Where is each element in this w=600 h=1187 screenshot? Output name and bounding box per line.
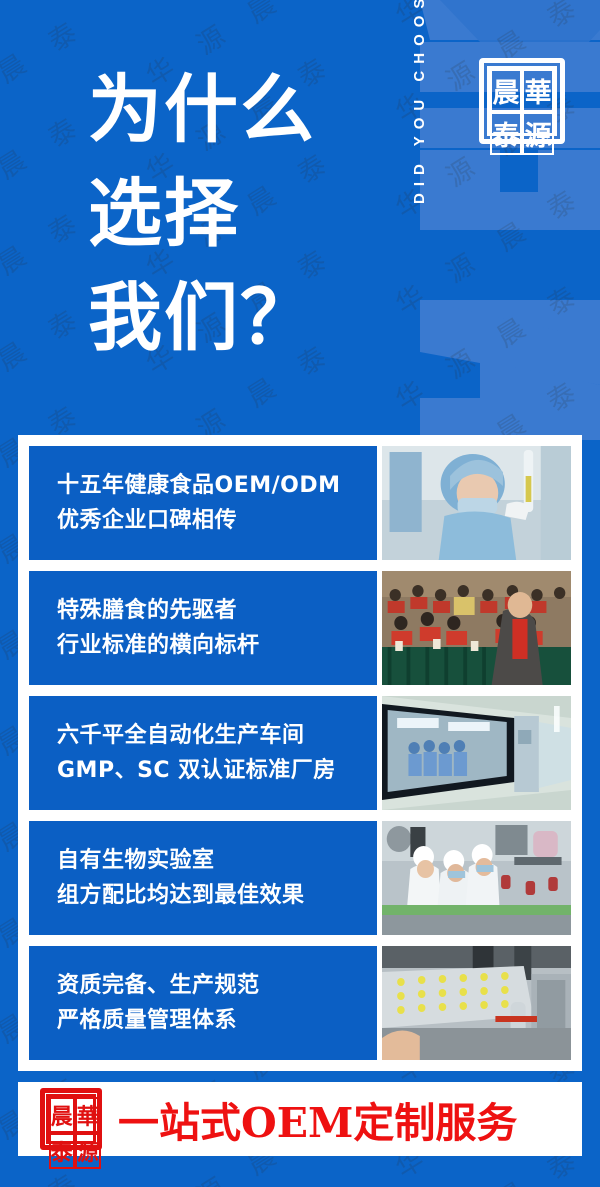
feature-card: 六千平全自动化生产车间 GMP、SC 双认证标准厂房 (29, 696, 571, 810)
feature-card: 十五年健康食品OEM/ODM 优秀企业口碑相传 (29, 446, 571, 560)
brand-logo-stamp: 晨 華 泰 源 (479, 58, 565, 144)
feature-card-line-1: 十五年健康食品OEM/ODM (57, 468, 377, 503)
poster-root: 为什么 选择 我们？ DID YOU CHOOSE US 晨 華 泰 源 十五年… (0, 0, 600, 1187)
footer-slogan-text: 一站式OEM定制服务 (118, 1089, 517, 1149)
feature-card-panel: 十五年健康食品OEM/ODM 优秀企业口碑相传 (18, 435, 582, 1071)
feature-card-text: 十五年健康食品OEM/ODM 优秀企业口碑相传 (29, 446, 377, 560)
headline-line-3: 我们？ (88, 266, 388, 370)
feature-card-line-2: GMP、SC 双认证标准厂房 (57, 753, 377, 788)
feature-card-text: 资质完备、生产规范 严格质量管理体系 (29, 946, 377, 1060)
feature-card: 特殊膳食的先驱者 行业标准的横向标杆 (29, 571, 571, 685)
feature-card-line-1: 资质完备、生产规范 (57, 968, 377, 1003)
feature-card-text: 自有生物实验室 组方配比均达到最佳效果 (29, 821, 377, 935)
stamp-char-3: 泰 (49, 1133, 75, 1169)
headline-line-2: 选择 (88, 162, 388, 266)
photo-production-line (382, 821, 571, 935)
poster-header: 为什么 选择 我们？ DID YOU CHOOSE US 晨 華 泰 源 (0, 0, 600, 435)
footer-brand-stamp: 晨 華 泰 源 (40, 1088, 102, 1150)
stamp-grid: 晨 華 泰 源 (46, 1094, 97, 1145)
feature-card-line-2: 优秀企业口碑相传 (57, 503, 377, 538)
photo-cleanroom-corridor (382, 696, 571, 810)
feature-card-line-2: 行业标准的横向标杆 (57, 628, 377, 663)
stamp-char-1: 晨 (49, 1097, 75, 1133)
stamp-char-2: 華 (522, 69, 554, 112)
stamp-char-4: 源 (75, 1133, 101, 1169)
footer-slogan-bar: 晨 華 泰 源 一站式OEM定制服务 (18, 1082, 582, 1156)
photo-conference-audience (382, 571, 571, 685)
page-title: 为什么 选择 我们？ (88, 58, 388, 370)
vertical-tagline-text: DID YOU CHOOSE US (411, 0, 428, 204)
feature-card-text: 六千平全自动化生产车间 GMP、SC 双认证标准厂房 (29, 696, 377, 810)
feature-card: 自有生物实验室 组方配比均达到最佳效果 (29, 821, 571, 935)
stamp-char-4: 源 (522, 112, 554, 155)
stamp-char-3: 泰 (490, 112, 522, 155)
feature-card-line-1: 六千平全自动化生产车间 (57, 718, 377, 753)
feature-card-line-1: 自有生物实验室 (57, 843, 377, 878)
feature-card-line-2: 组方配比均达到最佳效果 (57, 878, 377, 913)
feature-card: 资质完备、生产规范 严格质量管理体系 (29, 946, 571, 1060)
photo-blister-packing (382, 946, 571, 1060)
stamp-char-1: 晨 (490, 69, 522, 112)
feature-card-line-1: 特殊膳食的先驱者 (57, 593, 377, 628)
vertical-tagline: DID YOU CHOOSE US (393, 0, 429, 400)
headline-line-1: 为什么 (88, 58, 388, 162)
feature-card-line-2: 严格质量管理体系 (57, 1003, 377, 1038)
photo-lab-technician (382, 446, 571, 560)
feature-card-text: 特殊膳食的先驱者 行业标准的横向标杆 (29, 571, 377, 685)
stamp-char-2: 華 (75, 1097, 101, 1133)
stamp-grid: 晨 華 泰 源 (487, 66, 558, 137)
